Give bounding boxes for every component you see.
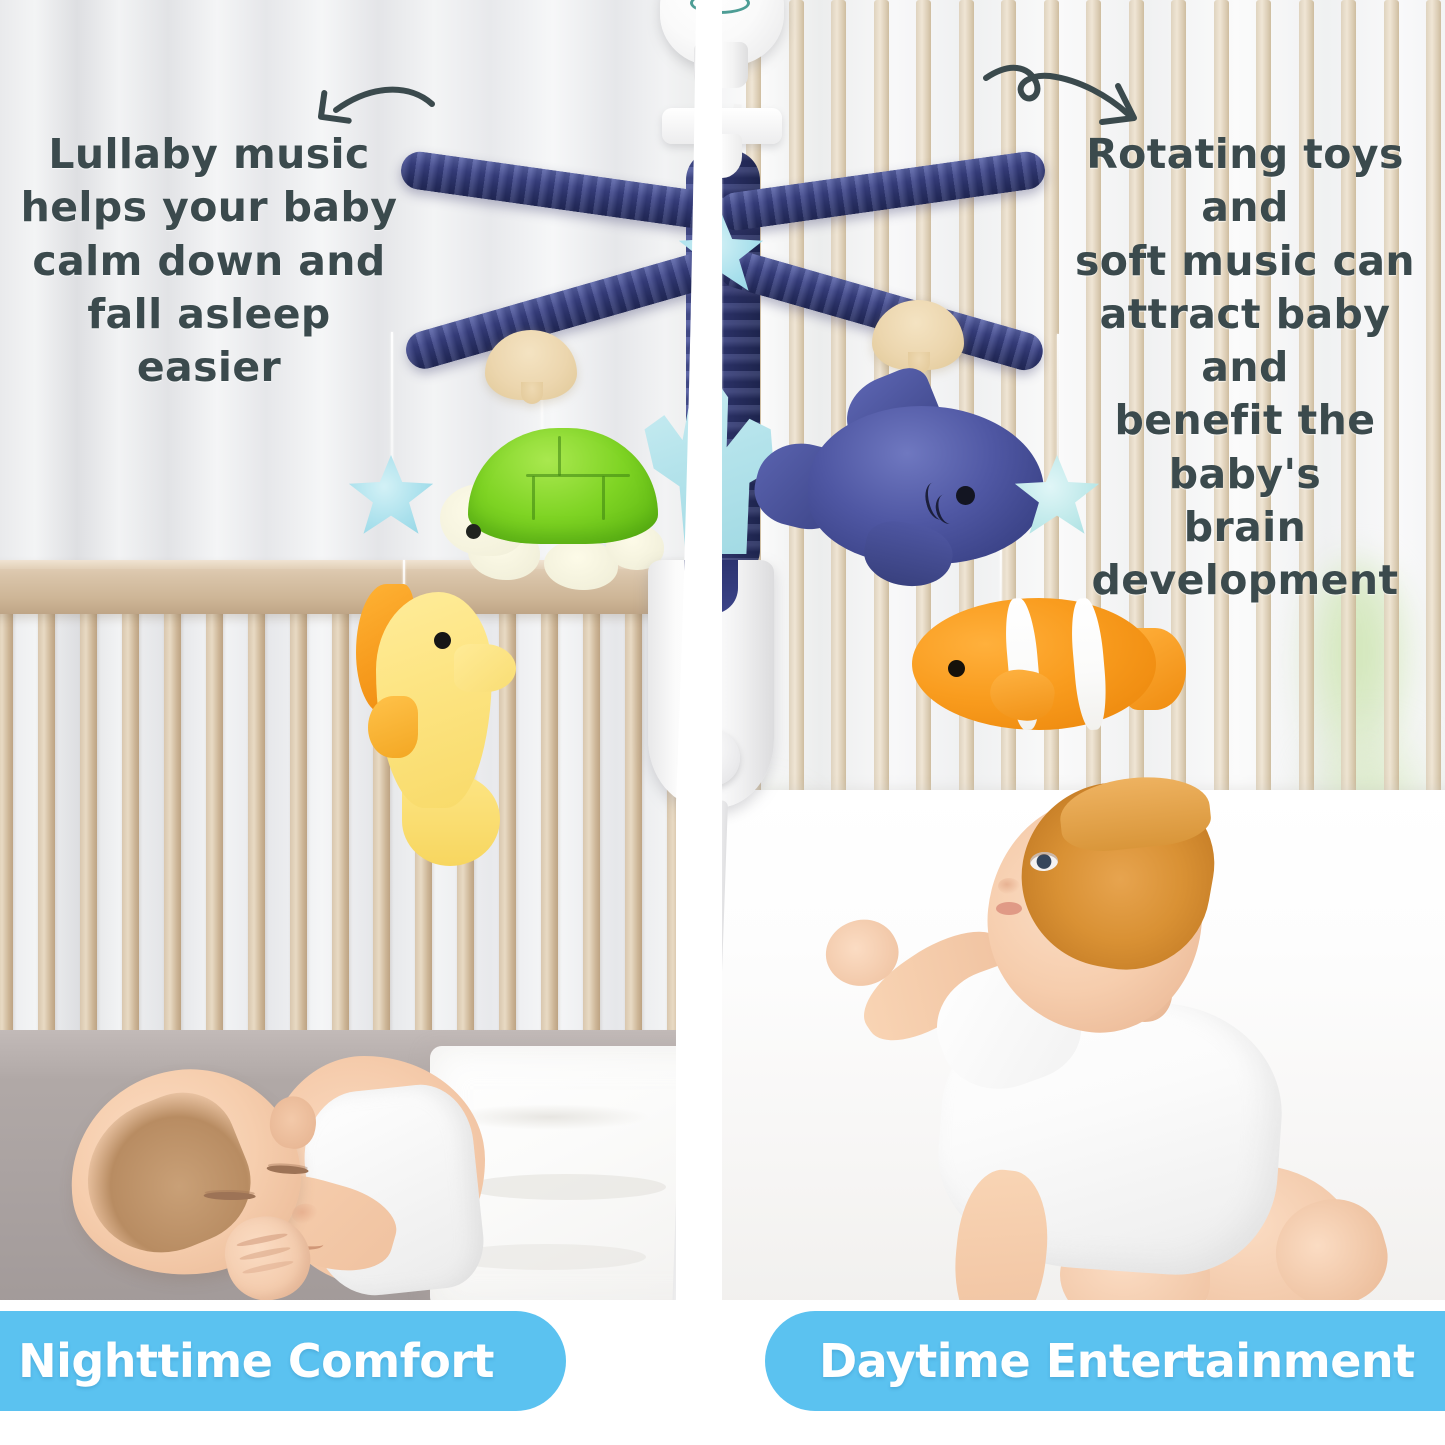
mobile-arm bbox=[399, 149, 731, 233]
caption-right: Rotating toys and soft music can attract… bbox=[1050, 128, 1440, 608]
banner-nighttime-comfort: Nighttime Comfort bbox=[0, 1311, 566, 1411]
banner-nighttime-label: Nighttime Comfort bbox=[18, 1334, 494, 1388]
caption-right-line-5: brain development bbox=[1050, 501, 1440, 608]
curved-arrow-right-icon bbox=[980, 52, 1165, 152]
caption-right-line-2: soft music can bbox=[1050, 235, 1440, 288]
seahorse-snout bbox=[454, 644, 516, 692]
caption-right-line-3: attract baby and bbox=[1050, 288, 1440, 395]
curved-arrow-left-icon bbox=[300, 66, 440, 146]
infographic-root: Lullaby music helps your baby calm down … bbox=[0, 0, 1445, 1445]
caption-left-line-4: fall asleep easier bbox=[18, 288, 400, 395]
turtle-shell-seam bbox=[532, 476, 535, 520]
caption-left-line-2: helps your baby bbox=[18, 181, 400, 234]
clamp-notch bbox=[684, 560, 738, 614]
turtle-eye bbox=[466, 524, 481, 539]
caption-right-line-4: benefit the baby's bbox=[1050, 394, 1440, 501]
turtle-shell-seam bbox=[602, 476, 605, 520]
turtle-toy bbox=[440, 428, 660, 598]
banner-row: Nighttime Comfort Daytime Entertainment bbox=[0, 1300, 1445, 1445]
caption-left: Lullaby music helps your baby calm down … bbox=[18, 128, 400, 394]
clamp-adjust-knob[interactable] bbox=[684, 730, 740, 786]
whale-toy bbox=[768, 382, 1068, 602]
whale-eye bbox=[956, 486, 975, 505]
seahorse-eye bbox=[434, 632, 451, 649]
turtle-shell-seam bbox=[558, 436, 561, 476]
banner-daytime-label: Daytime Entertainment bbox=[819, 1334, 1415, 1388]
caption-left-line-3: calm down and bbox=[18, 235, 400, 288]
clamp-support-post bbox=[672, 799, 728, 1300]
mobile-hub-stem bbox=[702, 134, 742, 178]
turtle-shell-seam bbox=[526, 474, 630, 477]
photo-area: Lullaby music helps your baby calm down … bbox=[0, 0, 1445, 1300]
seahorse-toy bbox=[350, 580, 530, 880]
clownfish-toy bbox=[912, 598, 1192, 748]
clownfish-eye bbox=[948, 660, 965, 677]
mobile-arm bbox=[715, 149, 1047, 233]
banner-daytime-entertainment: Daytime Entertainment bbox=[765, 1311, 1445, 1411]
starfish-toy-left bbox=[348, 455, 434, 537]
turtle-shell bbox=[468, 428, 658, 544]
seahorse-fin bbox=[368, 696, 418, 758]
